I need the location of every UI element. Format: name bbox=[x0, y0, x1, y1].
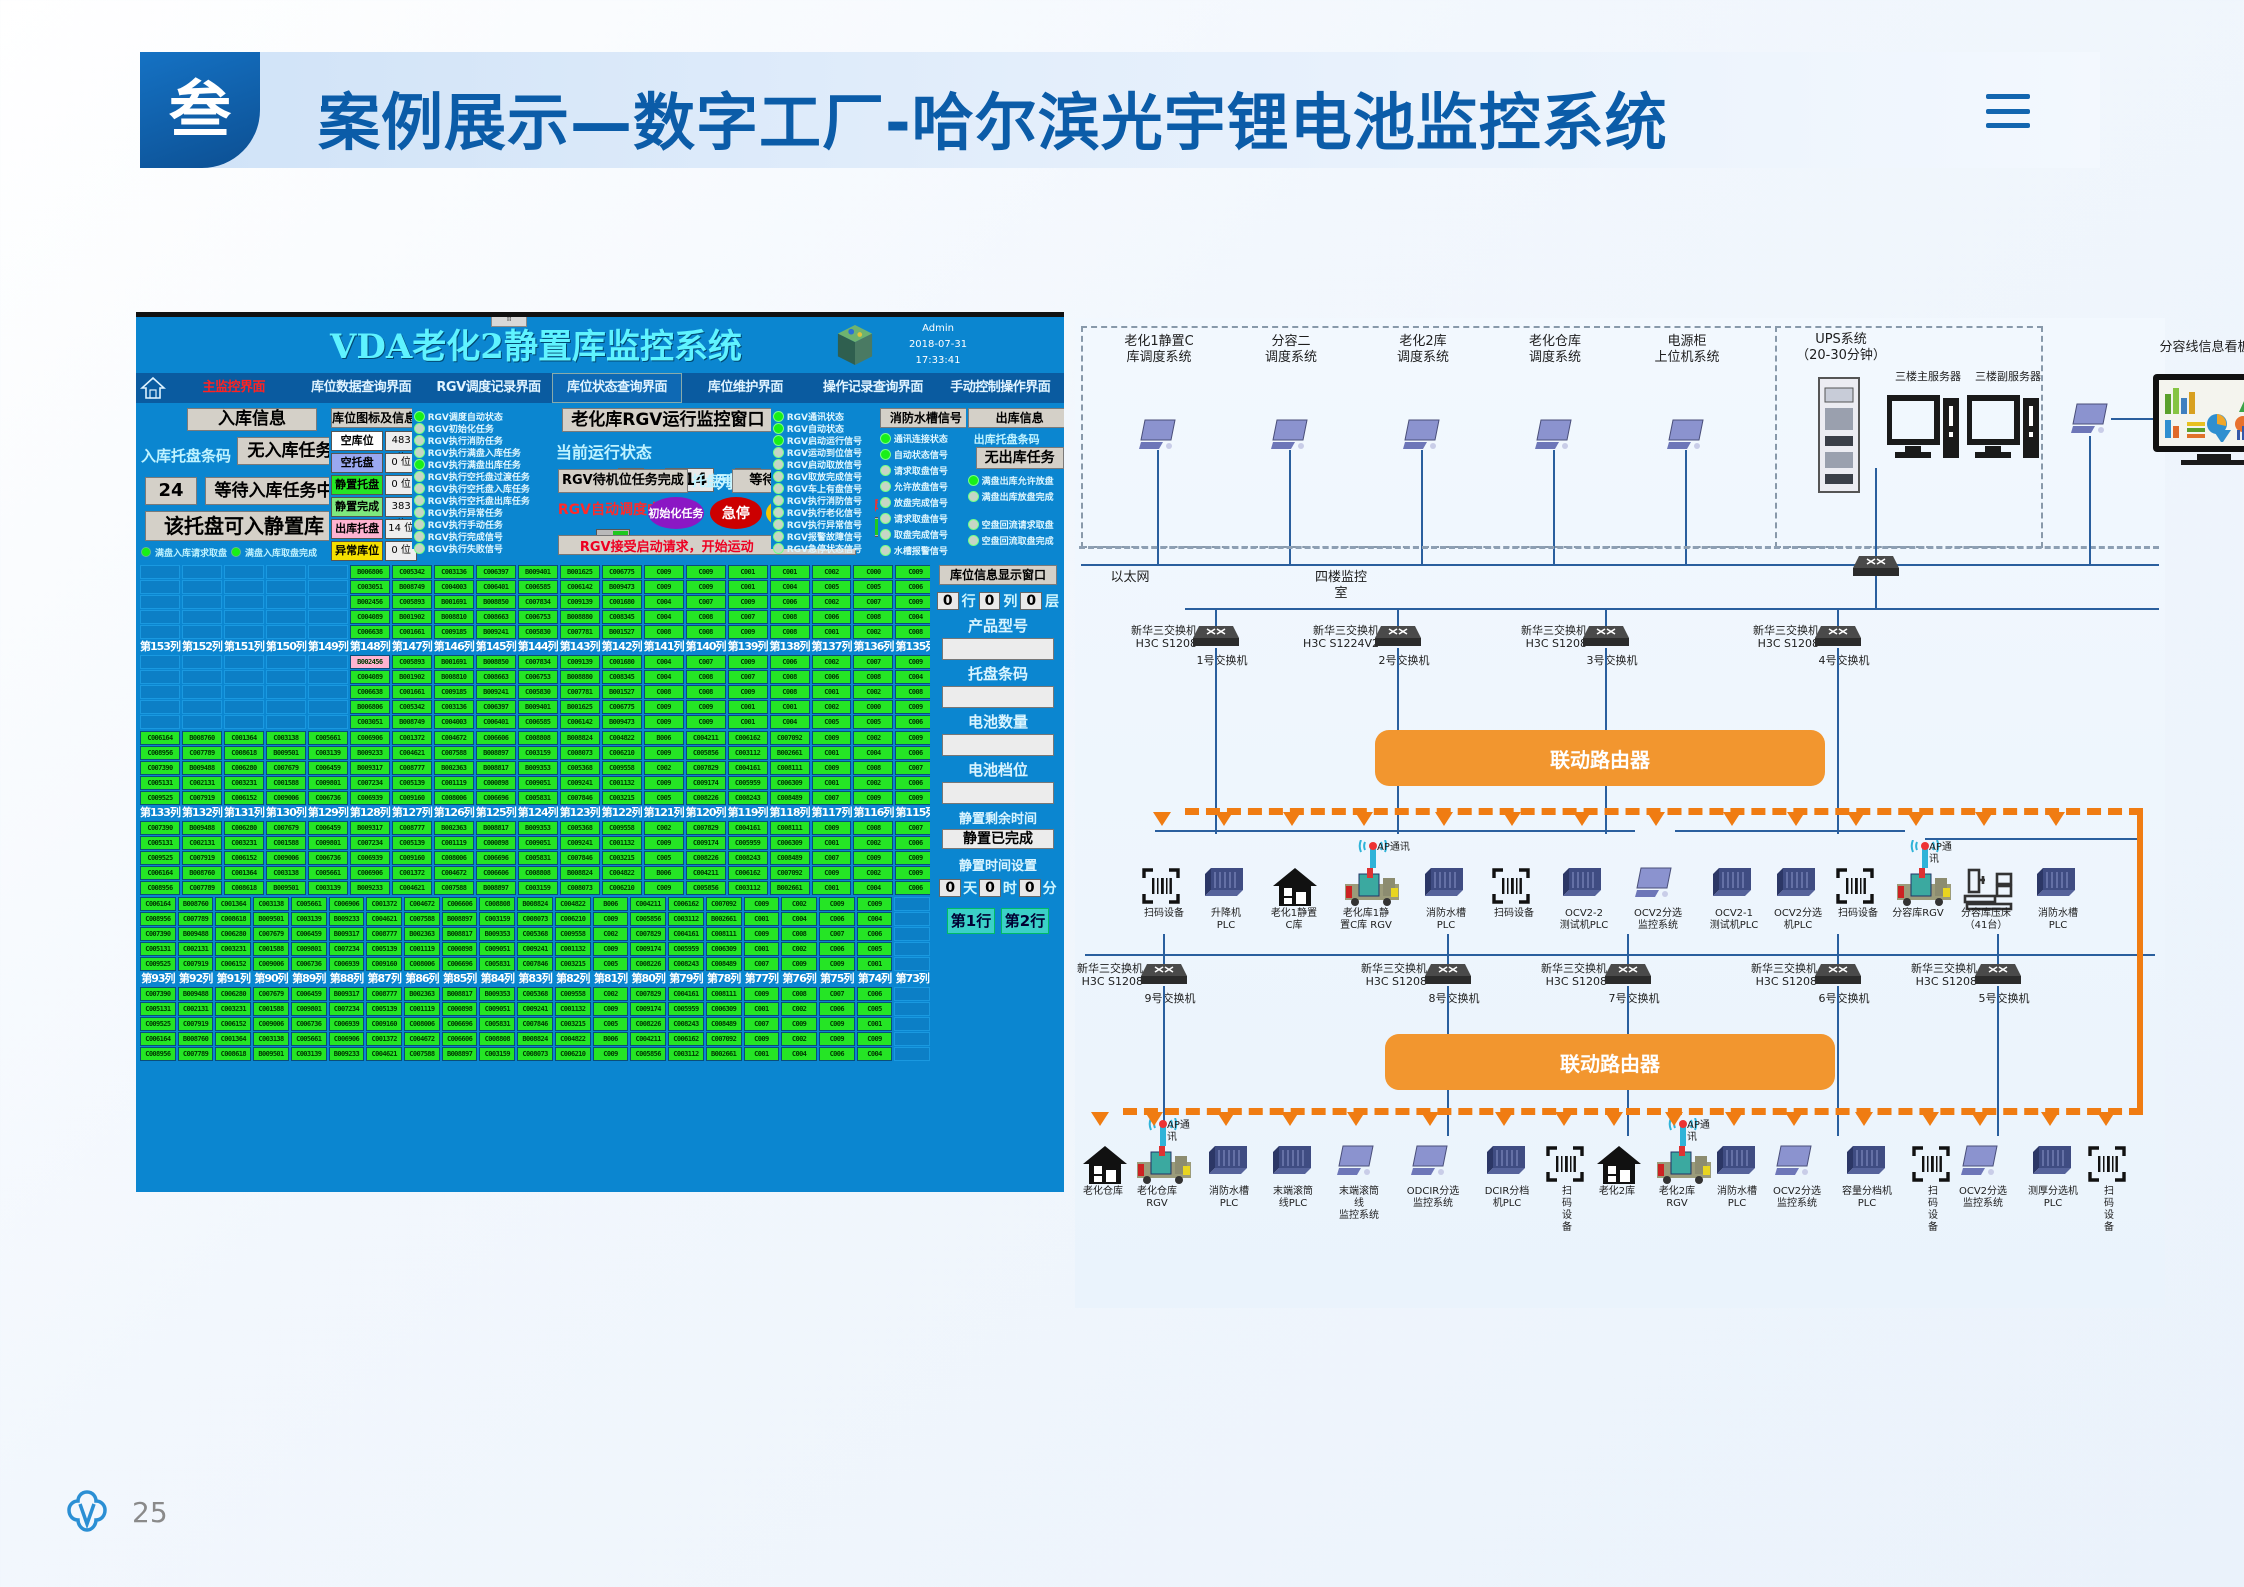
grid-cell[interactable]: C006753 bbox=[518, 610, 558, 624]
grid-cell[interactable]: C006606 bbox=[442, 1032, 478, 1046]
grid-cell[interactable]: C009006 bbox=[266, 851, 306, 865]
grid-cell[interactable]: C009139 bbox=[560, 595, 600, 609]
grid-cell[interactable]: C006 bbox=[770, 595, 810, 609]
grid-cell[interactable]: C002131 bbox=[182, 776, 222, 790]
grid-cell[interactable]: C008 bbox=[770, 670, 810, 684]
grid-cell[interactable]: C004672 bbox=[434, 866, 474, 880]
grid-cell[interactable]: B008850 bbox=[476, 595, 516, 609]
grid-cell[interactable]: C002 bbox=[781, 942, 817, 956]
grid-cell[interactable]: C004 bbox=[895, 670, 930, 684]
home-icon[interactable] bbox=[140, 375, 166, 401]
grid-cell[interactable]: C008 bbox=[644, 625, 684, 639]
grid-cell[interactable]: C004672 bbox=[404, 1032, 440, 1046]
grid-cell[interactable]: C006459 bbox=[291, 987, 327, 1001]
grid-cell[interactable]: C000 bbox=[853, 700, 893, 714]
grid-cell[interactable]: C009 bbox=[728, 655, 768, 669]
grid-cell[interactable]: B006 bbox=[644, 731, 684, 745]
grid-column[interactable]: C001364C008618C006280C003231C006152第131列… bbox=[224, 731, 264, 896]
grid-cell[interactable]: B001527 bbox=[602, 625, 642, 639]
grid-column[interactable]: C001372C004621C008777C005139C009160第127列… bbox=[392, 731, 432, 896]
grid-cell[interactable]: C003215 bbox=[602, 791, 642, 805]
grid-cell[interactable]: C006 bbox=[819, 912, 855, 926]
grid-cell[interactable]: C006 bbox=[857, 927, 893, 941]
grid-cell[interactable]: C006309 bbox=[706, 942, 742, 956]
grid-column[interactable]: C006606B008897B008817C000898C006696第125列… bbox=[476, 731, 516, 896]
grid-cell[interactable] bbox=[182, 625, 222, 639]
grid-cell[interactable]: C005 bbox=[593, 957, 629, 971]
grid-cell[interactable]: C004822 bbox=[555, 897, 591, 911]
grid-cell[interactable]: C006210 bbox=[555, 912, 591, 926]
grid-cell[interactable]: C006164 bbox=[140, 1032, 176, 1046]
grid-cell[interactable]: C006 bbox=[895, 836, 930, 850]
grid-cell[interactable] bbox=[308, 715, 348, 729]
grid-column[interactable]: C007092B002661C008111C006309C008489第78列C… bbox=[706, 897, 742, 1062]
grid-cell[interactable]: C009 bbox=[644, 746, 684, 760]
grid-cell[interactable] bbox=[224, 610, 264, 624]
grid-cell[interactable]: B009401 bbox=[518, 565, 558, 579]
grid-column[interactable]: B006C009C002C009C005第81列C002C009C005B006… bbox=[593, 897, 629, 1062]
grid-cell[interactable]: C008 bbox=[895, 685, 930, 699]
grid-cell[interactable]: C006152 bbox=[215, 1017, 251, 1031]
grid-cell[interactable]: B009488 bbox=[178, 927, 214, 941]
grid-cell[interactable]: C001372 bbox=[392, 866, 432, 880]
grid-cell[interactable]: C008226 bbox=[686, 851, 726, 865]
grid-cell[interactable]: C009 bbox=[819, 1032, 855, 1046]
grid-cell[interactable]: C005131 bbox=[140, 942, 176, 956]
grid-cell[interactable]: C007679 bbox=[266, 761, 306, 775]
grid-cell[interactable]: C006906 bbox=[329, 897, 365, 911]
grid-cell[interactable]: B009233 bbox=[350, 881, 390, 895]
grid-cell[interactable]: C008 bbox=[686, 610, 726, 624]
grid-cell[interactable]: C004621 bbox=[366, 1047, 402, 1061]
grid-cell[interactable]: C005661 bbox=[308, 731, 348, 745]
grid-cell[interactable]: C006736 bbox=[308, 791, 348, 805]
grid-cell[interactable]: C004822 bbox=[602, 731, 642, 745]
grid-cell[interactable]: C005 bbox=[857, 942, 893, 956]
grid-column[interactable]: C003138B009501C007679C001588C009006第130列… bbox=[266, 731, 306, 896]
grid-cell[interactable]: C007 bbox=[728, 670, 768, 684]
grid-column[interactable]: C009C006C009C004C008第135列C009C004C008C00… bbox=[895, 565, 930, 730]
grid-cell[interactable] bbox=[308, 565, 348, 579]
grid-cell[interactable]: C003159 bbox=[518, 881, 558, 895]
grid-cell[interactable] bbox=[266, 580, 306, 594]
grid-cell[interactable]: C007 bbox=[812, 791, 852, 805]
grid-cell[interactable]: C005342 bbox=[392, 700, 432, 714]
grid-cell[interactable]: C001132 bbox=[555, 1002, 591, 1016]
grid-column[interactable]: 第152列 bbox=[182, 565, 222, 730]
grid-cell[interactable]: B002456 bbox=[350, 655, 390, 669]
grid-cell[interactable]: C008226 bbox=[686, 791, 726, 805]
grid-column[interactable]: C002C004C008C002C009第116列C008C002C009C00… bbox=[853, 731, 893, 896]
grid-cell[interactable]: C004822 bbox=[555, 1032, 591, 1046]
grid-cell[interactable]: C006696 bbox=[442, 957, 478, 971]
grid-cell[interactable]: C002 bbox=[853, 836, 893, 850]
grid-cell[interactable]: C000898 bbox=[476, 836, 516, 850]
grid-cell[interactable]: B009501 bbox=[266, 746, 306, 760]
grid-cell[interactable]: C008243 bbox=[668, 1017, 704, 1031]
grid-cell[interactable]: C006696 bbox=[476, 791, 516, 805]
grid-cell[interactable]: C007846 bbox=[560, 851, 600, 865]
grid-cell[interactable]: B009488 bbox=[182, 821, 222, 835]
grid-column[interactable]: C004672C007588B002363C001119C008006第126列… bbox=[434, 731, 474, 896]
grid-cell[interactable]: B001691 bbox=[434, 655, 474, 669]
grid-cell[interactable]: B008760 bbox=[182, 731, 222, 745]
grid-cell[interactable]: C006736 bbox=[291, 957, 327, 971]
grid-cell[interactable] bbox=[224, 565, 264, 579]
grid-cell[interactable]: C004621 bbox=[366, 912, 402, 926]
grid-cell[interactable]: C009 bbox=[895, 595, 930, 609]
grid-cell[interactable]: C009 bbox=[593, 912, 629, 926]
grid-column[interactable]: B008824C008073C005368C009241C007846第123列… bbox=[560, 731, 600, 896]
grid-cell[interactable]: C008 bbox=[781, 987, 817, 1001]
grid-cell[interactable]: B001691 bbox=[434, 595, 474, 609]
grid-cell[interactable]: B009473 bbox=[602, 715, 642, 729]
grid-cell[interactable]: C001132 bbox=[602, 776, 642, 790]
grid-cell[interactable]: C005830 bbox=[518, 625, 558, 639]
grid-cell[interactable]: C007092 bbox=[770, 731, 810, 745]
grid-cell[interactable]: C002 bbox=[812, 595, 852, 609]
grid-cell[interactable]: C003231 bbox=[215, 1002, 251, 1016]
grid-cell[interactable]: C009 bbox=[728, 595, 768, 609]
grid-cell[interactable]: C004211 bbox=[630, 897, 666, 911]
grid-cell[interactable]: C006 bbox=[895, 746, 930, 760]
grid-cell[interactable]: C006696 bbox=[442, 1017, 478, 1031]
grid-cell[interactable]: C001661 bbox=[392, 625, 432, 639]
grid-cell[interactable]: C006736 bbox=[308, 851, 348, 865]
grid-cell[interactable] bbox=[266, 565, 306, 579]
grid-cell[interactable]: C008808 bbox=[479, 1032, 515, 1046]
grid-cell[interactable]: C003139 bbox=[308, 881, 348, 895]
grid-cell[interactable]: C009160 bbox=[366, 1017, 402, 1031]
grid-cell[interactable]: C002 bbox=[593, 987, 629, 1001]
grid-cell[interactable] bbox=[224, 625, 264, 639]
grid-cell[interactable]: C007234 bbox=[350, 776, 390, 790]
grid-cell[interactable]: C009558 bbox=[555, 987, 591, 1001]
grid-cell[interactable]: C008956 bbox=[140, 746, 180, 760]
grid-cell[interactable]: C006638 bbox=[350, 685, 390, 699]
grid-cell[interactable]: B009401 bbox=[518, 700, 558, 714]
grid-cell[interactable]: C007834 bbox=[518, 655, 558, 669]
storage-location-grid[interactable]: 第153列第152列第151列第150列第149列B006806C003051B… bbox=[140, 565, 930, 1165]
grid-cell[interactable]: C006753 bbox=[518, 670, 558, 684]
grid-cell[interactable] bbox=[182, 580, 222, 594]
grid-column[interactable]: C003138B009501C007679C001588C009006第90列C… bbox=[253, 897, 289, 1062]
tab-main-monitor[interactable]: 主监控界面 bbox=[170, 374, 297, 402]
tab-operation-record-query[interactable]: 操作记录查询界面 bbox=[809, 374, 936, 402]
grid-cell[interactable]: B008824 bbox=[517, 1032, 553, 1046]
grid-cell[interactable]: C002 bbox=[781, 1002, 817, 1016]
grid-cell[interactable]: C009 bbox=[895, 791, 930, 805]
grid-cell[interactable]: C009801 bbox=[308, 776, 348, 790]
grid-cell[interactable]: C008345 bbox=[602, 610, 642, 624]
grid-cell[interactable]: C008 bbox=[686, 670, 726, 684]
grid-cell[interactable]: C004211 bbox=[686, 866, 726, 880]
grid-cell[interactable]: C006606 bbox=[476, 731, 516, 745]
grid-cell[interactable]: C002131 bbox=[182, 836, 222, 850]
grid-cell[interactable]: C008 bbox=[853, 821, 893, 835]
grid-cell[interactable]: C009 bbox=[744, 987, 780, 1001]
grid-cell[interactable]: C007789 bbox=[178, 912, 214, 926]
grid-column[interactable]: C006906B009233B009317C007234C006939第128列… bbox=[350, 731, 390, 896]
grid-cell[interactable]: C008 bbox=[853, 610, 893, 624]
grid-cell[interactable]: C005831 bbox=[479, 957, 515, 971]
grid-cell[interactable]: C005830 bbox=[518, 685, 558, 699]
row-2-button[interactable]: 第2行 bbox=[1001, 908, 1049, 934]
grid-cell[interactable]: C006280 bbox=[224, 821, 264, 835]
grid-cell[interactable]: C008243 bbox=[728, 791, 768, 805]
grid-cell[interactable]: C001132 bbox=[602, 836, 642, 850]
grid-cell[interactable]: C005856 bbox=[686, 746, 726, 760]
grid-cell[interactable]: C007234 bbox=[350, 836, 390, 850]
hamburger-icon[interactable] bbox=[1986, 94, 2030, 128]
grid-cell[interactable]: C007092 bbox=[770, 866, 810, 880]
grid-cell[interactable]: C003112 bbox=[728, 881, 768, 895]
grid-cell[interactable] bbox=[182, 715, 222, 729]
grid-cell[interactable]: C005856 bbox=[686, 881, 726, 895]
grid-cell[interactable]: C009 bbox=[853, 851, 893, 865]
grid-cell[interactable]: B009488 bbox=[182, 761, 222, 775]
grid-cell[interactable]: B009317 bbox=[329, 987, 365, 1001]
grid-cell[interactable]: C009525 bbox=[140, 1017, 176, 1031]
grid-cell[interactable]: B002456 bbox=[350, 595, 390, 609]
grid-column[interactable]: 第73列 bbox=[894, 897, 930, 1062]
grid-cell[interactable]: C006 bbox=[770, 655, 810, 669]
grid-cell[interactable]: C007789 bbox=[178, 1047, 214, 1061]
grid-cell[interactable]: C008808 bbox=[518, 866, 558, 880]
grid-cell[interactable]: C005139 bbox=[392, 776, 432, 790]
grid-cell[interactable]: C005368 bbox=[560, 821, 600, 835]
grid-cell[interactable] bbox=[224, 595, 264, 609]
grid-cell[interactable]: C008956 bbox=[140, 912, 176, 926]
grid-column[interactable]: C006164C008956C007390C005131C009525第133列… bbox=[140, 731, 180, 896]
tab-location-data-query[interactable]: 库位数据查询界面 bbox=[297, 374, 424, 402]
grid-cell[interactable]: C001 bbox=[812, 836, 852, 850]
grid-column[interactable]: 第151列 bbox=[224, 565, 264, 730]
grid-cell[interactable]: C000898 bbox=[442, 942, 478, 956]
grid-cell[interactable]: C006939 bbox=[350, 791, 390, 805]
grid-cell[interactable]: C009 bbox=[644, 836, 684, 850]
grid-cell[interactable] bbox=[308, 625, 348, 639]
grid-cell[interactable]: C007781 bbox=[560, 625, 600, 639]
grid-cell[interactable]: B001625 bbox=[560, 565, 600, 579]
grid-cell[interactable]: C003112 bbox=[668, 912, 704, 926]
grid-cell[interactable]: C001 bbox=[744, 942, 780, 956]
grid-cell[interactable]: C003215 bbox=[602, 851, 642, 865]
grid-cell[interactable]: B006 bbox=[644, 866, 684, 880]
grid-cell[interactable]: C009185 bbox=[434, 685, 474, 699]
grid-cell[interactable]: B008897 bbox=[476, 746, 516, 760]
grid-cell[interactable]: C005 bbox=[812, 580, 852, 594]
grid-cell[interactable]: B009317 bbox=[350, 761, 390, 775]
grid-cell[interactable]: C001364 bbox=[215, 1032, 251, 1046]
grid-cell[interactable]: C005959 bbox=[728, 836, 768, 850]
grid-column[interactable]: C004211C005856C007829C009174C008226第80列C… bbox=[630, 897, 666, 1062]
grid-block[interactable]: 第153列第152列第151列第150列第149列B006806C003051B… bbox=[140, 565, 930, 730]
grid-cell[interactable]: C007390 bbox=[140, 987, 176, 1001]
grid-cell[interactable]: C009 bbox=[819, 1017, 855, 1031]
grid-cell[interactable]: C006142 bbox=[560, 580, 600, 594]
grid-column[interactable]: C008808C003159B009353C009051C005831第84列B… bbox=[479, 897, 515, 1062]
grid-cell[interactable]: C009006 bbox=[253, 1017, 289, 1031]
grid-cell[interactable]: C009801 bbox=[308, 836, 348, 850]
grid-cell[interactable]: B009353 bbox=[479, 987, 515, 1001]
grid-cell[interactable]: C009525 bbox=[140, 851, 180, 865]
grid-column[interactable]: C006775B009473C001680C008345B001527第142列… bbox=[602, 565, 642, 730]
grid-cell[interactable]: C004161 bbox=[728, 761, 768, 775]
grid-cell[interactable]: C001588 bbox=[266, 776, 306, 790]
grid-cell[interactable]: C006 bbox=[895, 881, 930, 895]
grid-cell[interactable]: C008006 bbox=[404, 957, 440, 971]
grid-cell[interactable]: C008777 bbox=[366, 987, 402, 1001]
grid-column[interactable]: C009C009C004C004C008第141列C004C004C008C00… bbox=[644, 565, 684, 730]
grid-column[interactable]: 第150列 bbox=[266, 565, 306, 730]
grid-cell[interactable]: C002 bbox=[593, 927, 629, 941]
grid-cell[interactable]: C004 bbox=[644, 670, 684, 684]
grid-cell[interactable]: C004089 bbox=[350, 610, 390, 624]
grid-cell[interactable]: C005856 bbox=[630, 1047, 666, 1061]
grid-cell[interactable]: C009051 bbox=[479, 1002, 515, 1016]
grid-cell[interactable]: C008006 bbox=[434, 791, 474, 805]
grid-cell[interactable] bbox=[308, 595, 348, 609]
grid-cell[interactable] bbox=[308, 610, 348, 624]
grid-cell[interactable]: C002 bbox=[853, 776, 893, 790]
grid-column[interactable]: B001625C006142C009139B008880C007781第143列… bbox=[560, 565, 600, 730]
grid-cell[interactable]: C007919 bbox=[182, 851, 222, 865]
grid-cell[interactable]: C009006 bbox=[253, 957, 289, 971]
grid-cell[interactable]: B009233 bbox=[350, 746, 390, 760]
grid-cell[interactable]: C006164 bbox=[140, 866, 180, 880]
grid-cell[interactable]: B006 bbox=[593, 897, 629, 911]
grid-cell[interactable]: C006606 bbox=[442, 897, 478, 911]
grid-cell[interactable]: C005131 bbox=[140, 1002, 176, 1016]
grid-cell[interactable] bbox=[894, 1047, 930, 1061]
grid-cell[interactable]: B008760 bbox=[178, 1032, 214, 1046]
grid-cell[interactable] bbox=[182, 655, 222, 669]
grid-cell[interactable]: C006162 bbox=[728, 731, 768, 745]
grid-cell[interactable]: C008663 bbox=[476, 670, 516, 684]
grid-cell[interactable]: C007 bbox=[812, 851, 852, 865]
grid-cell[interactable]: C004672 bbox=[404, 897, 440, 911]
grid-cell[interactable]: C009 bbox=[812, 761, 852, 775]
grid-cell[interactable]: C009 bbox=[744, 1032, 780, 1046]
grid-cell[interactable]: C006210 bbox=[602, 746, 642, 760]
grid-cell[interactable]: C007789 bbox=[182, 881, 222, 895]
tab-location-maintenance[interactable]: 库位维护界面 bbox=[682, 374, 809, 402]
grid-cell[interactable]: C001 bbox=[728, 700, 768, 714]
grid-cell[interactable]: C004 bbox=[770, 580, 810, 594]
readout-grade-field[interactable] bbox=[942, 782, 1054, 804]
grid-cell[interactable]: C009174 bbox=[630, 942, 666, 956]
grid-cell[interactable]: C009 bbox=[728, 625, 768, 639]
grid-cell[interactable]: C003138 bbox=[266, 866, 306, 880]
grid-cell[interactable]: C003138 bbox=[253, 1032, 289, 1046]
grid-cell[interactable]: C005342 bbox=[392, 565, 432, 579]
grid-cell[interactable]: C004003 bbox=[434, 580, 474, 594]
grid-cell[interactable]: C006397 bbox=[476, 565, 516, 579]
grid-cell[interactable]: C006 bbox=[819, 942, 855, 956]
grid-column[interactable]: B008760C007789B009488C002131C007919第92列B… bbox=[178, 897, 214, 1062]
grid-cell[interactable]: C006 bbox=[895, 776, 930, 790]
grid-cell[interactable]: C001119 bbox=[434, 776, 474, 790]
grid-cell[interactable]: B008880 bbox=[560, 670, 600, 684]
grid-cell[interactable]: C009 bbox=[812, 731, 852, 745]
grid-column[interactable]: C002C005C002C006C001第137列C002C006C001C00… bbox=[812, 565, 852, 730]
grid-cell[interactable]: C008777 bbox=[392, 761, 432, 775]
grid-cell[interactable]: C006210 bbox=[555, 1047, 591, 1061]
grid-cell[interactable]: C004161 bbox=[668, 927, 704, 941]
grid-cell[interactable]: C004 bbox=[781, 1047, 817, 1061]
grid-cell[interactable]: B008824 bbox=[560, 731, 600, 745]
grid-cell[interactable]: C007234 bbox=[329, 1002, 365, 1016]
grid-cell[interactable]: C009 bbox=[644, 565, 684, 579]
grid-cell[interactable]: C007829 bbox=[630, 927, 666, 941]
grid-cell[interactable] bbox=[140, 565, 180, 579]
grid-cell[interactable]: C001 bbox=[744, 1002, 780, 1016]
grid-cell[interactable]: C007 bbox=[853, 655, 893, 669]
grid-column[interactable]: C002C004C008C002C009第76列C008C002C009C002… bbox=[781, 897, 817, 1062]
tab-rgv-schedule-record[interactable]: RGV调度记录界面 bbox=[425, 374, 552, 402]
grid-cell[interactable]: C009 bbox=[895, 700, 930, 714]
grid-cell[interactable]: C002 bbox=[853, 866, 893, 880]
grid-column[interactable]: B008824C008073C005368C009241C007846第83列C… bbox=[517, 897, 553, 1062]
grid-cell[interactable]: C008111 bbox=[706, 987, 742, 1001]
grid-cell[interactable]: C006280 bbox=[215, 927, 251, 941]
grid-cell[interactable]: C008663 bbox=[476, 610, 516, 624]
grid-column[interactable]: 第149列 bbox=[308, 565, 348, 730]
grid-cell[interactable]: C008489 bbox=[770, 851, 810, 865]
grid-cell[interactable]: C008489 bbox=[706, 1017, 742, 1031]
grid-cell[interactable]: C003139 bbox=[291, 912, 327, 926]
grid-cell[interactable]: B006806 bbox=[350, 700, 390, 714]
grid-cell[interactable]: C007829 bbox=[630, 987, 666, 1001]
grid-cell[interactable]: B009488 bbox=[178, 987, 214, 1001]
rest-hours-value[interactable]: 0 bbox=[979, 879, 1001, 897]
grid-cell[interactable]: C007390 bbox=[140, 927, 176, 941]
grid-cell[interactable]: B008760 bbox=[178, 897, 214, 911]
grid-column[interactable]: B006806C003051B002456C004089C006638第148列… bbox=[350, 565, 390, 730]
grid-cell[interactable]: B009241 bbox=[476, 625, 516, 639]
grid-cell[interactable]: C009 bbox=[644, 580, 684, 594]
grid-cell[interactable]: C005 bbox=[857, 1002, 893, 1016]
grid-cell[interactable]: C009 bbox=[895, 565, 930, 579]
grid-cell[interactable]: C009 bbox=[644, 700, 684, 714]
grid-cell[interactable]: C007919 bbox=[182, 791, 222, 805]
grid-cell[interactable] bbox=[224, 580, 264, 594]
grid-cell[interactable]: C007846 bbox=[517, 957, 553, 971]
grid-cell[interactable]: C002 bbox=[812, 700, 852, 714]
grid-cell[interactable]: C003112 bbox=[728, 746, 768, 760]
grid-cell[interactable]: C009 bbox=[853, 791, 893, 805]
grid-cell[interactable]: B001902 bbox=[392, 610, 432, 624]
grid-cell[interactable]: C008618 bbox=[224, 881, 264, 895]
grid-cell[interactable]: C001364 bbox=[224, 866, 264, 880]
row-1-button[interactable]: 第1行 bbox=[947, 908, 995, 934]
grid-cell[interactable]: C006736 bbox=[291, 1017, 327, 1031]
grid-cell[interactable]: C007679 bbox=[253, 987, 289, 1001]
tab-manual-control[interactable]: 手动控制操作界面 bbox=[937, 374, 1064, 402]
grid-cell[interactable] bbox=[308, 700, 348, 714]
grid-cell[interactable]: C001 bbox=[728, 580, 768, 594]
grid-cell[interactable]: C006775 bbox=[602, 565, 642, 579]
grid-cell[interactable]: B008850 bbox=[476, 655, 516, 669]
grid-cell[interactable]: C009160 bbox=[392, 851, 432, 865]
grid-cell[interactable]: C001680 bbox=[602, 595, 642, 609]
grid-cell[interactable]: C007 bbox=[895, 761, 930, 775]
grid-cell[interactable]: C001364 bbox=[215, 897, 251, 911]
grid-cell[interactable]: C005959 bbox=[668, 1002, 704, 1016]
grid-cell[interactable]: C000 bbox=[853, 565, 893, 579]
grid-cell[interactable]: C006401 bbox=[476, 580, 516, 594]
